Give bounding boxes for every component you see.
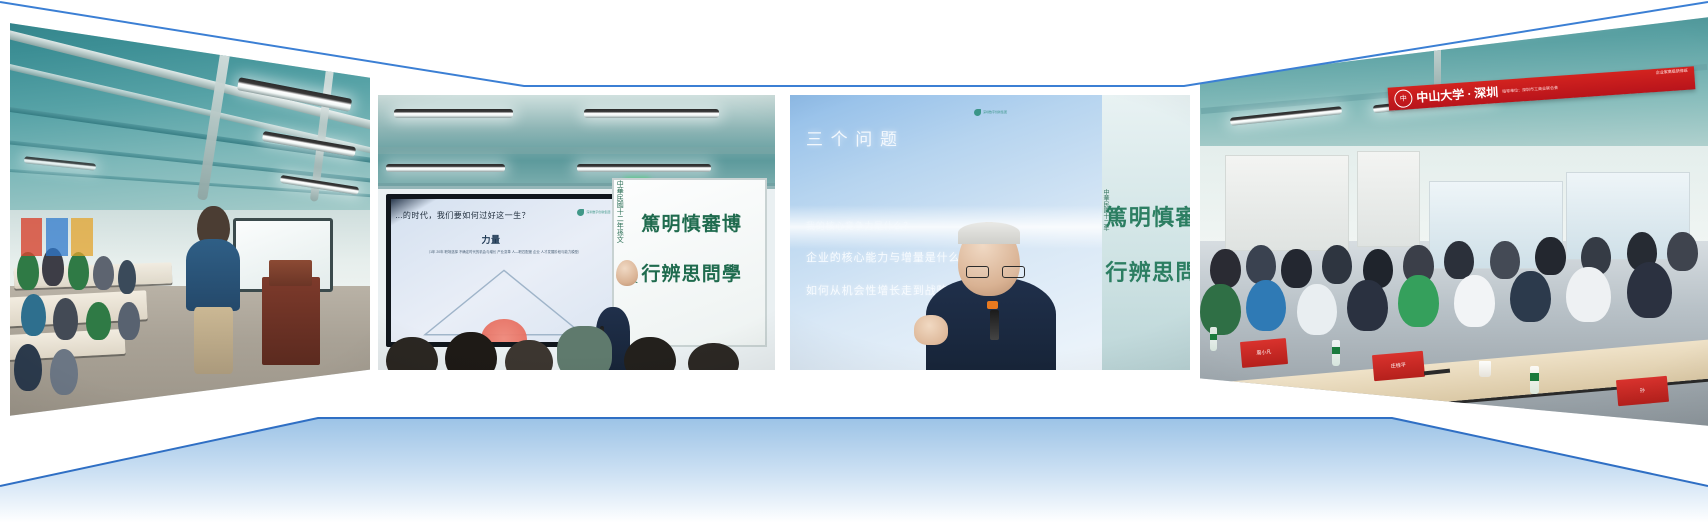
lecture-slide-and-calligraphy-scene: ...的时代，我们要如何过好这一生？ 力量 （1年 20年 职场选择 不确定时代… (378, 95, 775, 370)
slide-headline: ...的时代，我们要如何过好这一生？ (395, 210, 530, 221)
gallery-photo-right[interactable]: 中 中山大学 · 深圳 指导单位：深圳市工商业联合会 企业家高级研修班 (1200, 0, 1708, 430)
calligraphy-side-text: 中華民國十二年孫文 (614, 180, 624, 243)
company-logo-icon (577, 209, 584, 216)
slide-body-text: （1年 20年 职场选择 不确定时代的机会与增长 产业变革 人—职匹配度 企业 … (409, 250, 599, 255)
gallery-photo-center-2[interactable]: 三个问题 我的核心竞争力是什么？ 企业的核心能力与增量是什么？ 如何从机会性增长… (790, 95, 1190, 370)
wall-calligraphy-line-2: 行辨思問學 (1105, 255, 1190, 287)
calligraphy-line-1: 篤明慎審博 (641, 209, 742, 236)
table-nameplate: 周小凡 (1240, 338, 1288, 368)
classroom-wide-scene (10, 0, 370, 420)
banner-top-text: 企业家高级研修班 (1656, 68, 1688, 76)
slide-bullet-2: 企业的核心能力与增量是什么？ (806, 249, 972, 265)
university-seal-icon: 中 (1394, 89, 1413, 108)
presentation-screen: ...的时代，我们要如何过好这一生？ 力量 （1年 20年 职场选择 不确定时代… (386, 194, 622, 347)
wall-calligraphy-line-1: 篤明慎審博 (1105, 200, 1190, 232)
presenter-blue-slide-scene: 三个问题 我的核心竞争力是什么？ 企业的核心能力与增量是什么？ 如何从机会性增长… (790, 95, 1190, 370)
banner-stage: ...的时代，我们要如何过好这一生？ 力量 （1年 20年 职场选择 不确定时代… (0, 0, 1708, 523)
whiteboard: 中華民國十二年孫文 篤明慎審博 行辨思問學 孫文 (612, 178, 767, 347)
table-nameplate: 孙 (1616, 376, 1669, 406)
gallery-photo-center-1[interactable]: ...的时代，我们要如何过好这一生？ 力量 （1年 20年 职场选择 不确定时代… (378, 95, 775, 370)
slide-bullet-1: 我的核心竞争力是什么？ (806, 219, 913, 232)
banner-sub-text: 指导单位：深圳市工商业联合会 (1502, 85, 1558, 95)
calligraphy-line-2: 行辨思問學 (641, 259, 742, 286)
banner-main-text: 中山大学 · 深圳 (1416, 83, 1499, 106)
company-logo-icon (974, 109, 981, 116)
classroom-audience-scene: 中 中山大学 · 深圳 指导单位：深圳市工商业联合会 企业家高级研修班 (1200, 0, 1708, 430)
event-photo-gallery: ...的时代，我们要如何过好这一生？ 力量 （1年 20年 职场选择 不确定时代… (0, 0, 1708, 523)
slide-heading: 三个问题 (806, 125, 905, 150)
slide-logo-text: 深圳数字创新集团 (586, 211, 610, 214)
slide-logo-text: 深圳数字创新集团 (983, 111, 1007, 114)
gallery-photo-left[interactable] (10, 0, 370, 420)
slide-subhead: 力量 (481, 233, 500, 246)
table-nameplate: 庄桂平 (1372, 350, 1425, 380)
